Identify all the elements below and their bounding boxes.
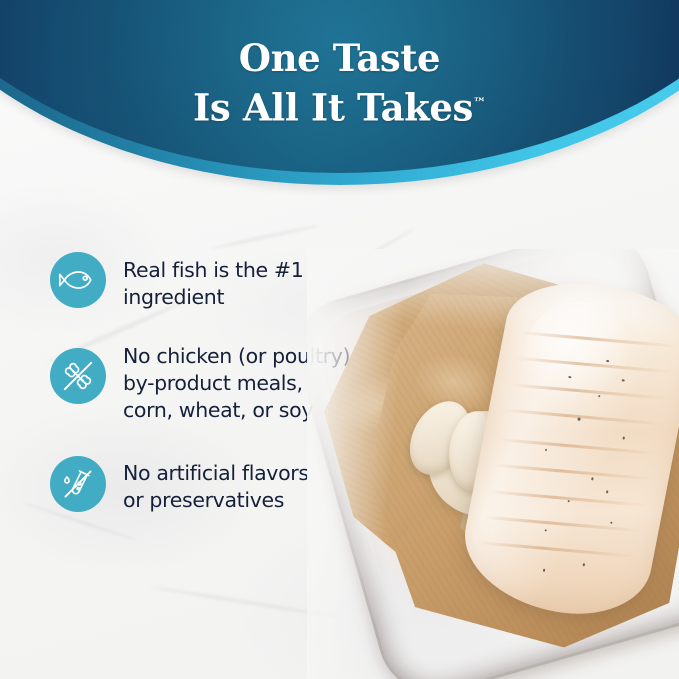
header-banner: One TasteIs All It Takes™ bbox=[0, 0, 679, 215]
title-line-2: Is All It Takes bbox=[193, 85, 473, 129]
benefit-label: No artificial flavors or preservatives bbox=[123, 456, 309, 514]
no-test-tube-icon bbox=[50, 456, 106, 512]
promo-banner: One TasteIs All It Takes™ Real fish is t… bbox=[0, 0, 679, 679]
food-photo bbox=[307, 249, 679, 679]
no-bone-icon bbox=[50, 348, 106, 404]
trademark-symbol: ™ bbox=[473, 96, 486, 111]
title-line-1: One Taste bbox=[239, 36, 440, 80]
fish-icon bbox=[50, 252, 106, 308]
page-title: One TasteIs All It Takes™ bbox=[0, 36, 679, 130]
benefit-label: Real fish is the #1 ingredient bbox=[123, 252, 303, 311]
